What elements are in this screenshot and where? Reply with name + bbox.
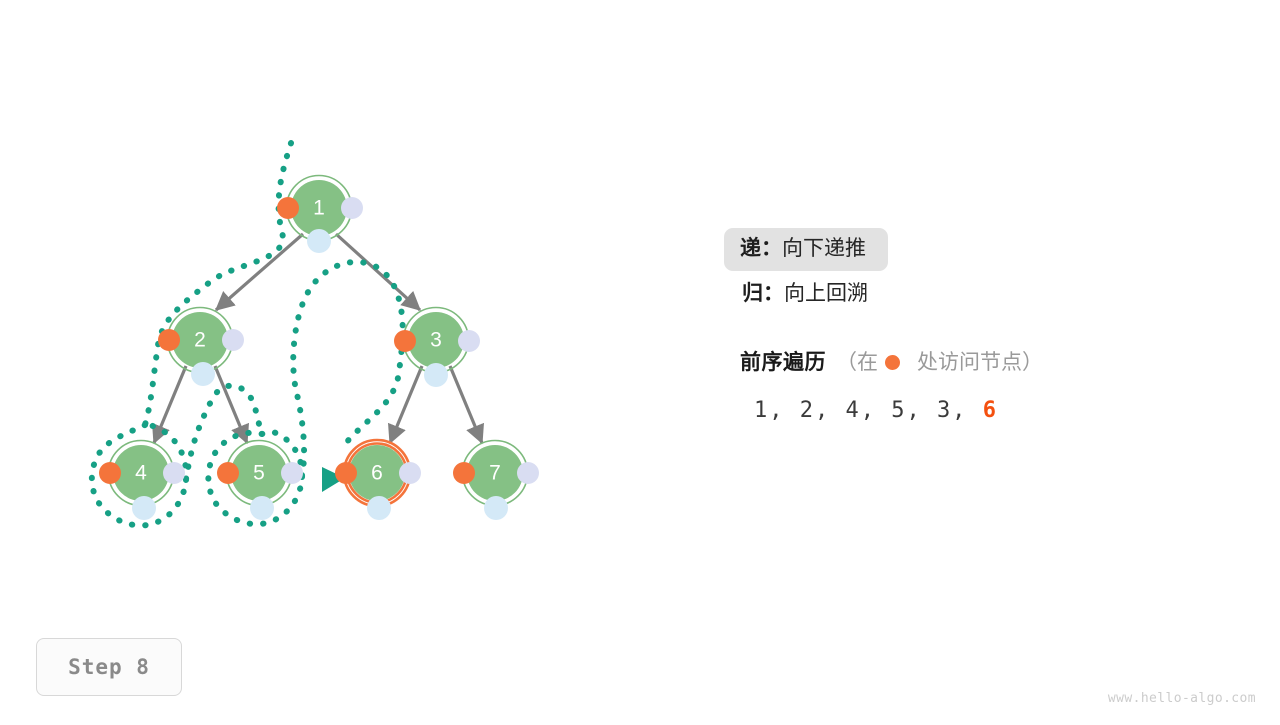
site-watermark: www.hello-algo.com xyxy=(1108,691,1256,706)
node-4-label: 4 xyxy=(135,462,147,485)
edge-3-6 xyxy=(390,366,422,443)
legend-backtrack-text: 向上回溯 xyxy=(784,283,868,304)
node-2-inorder-dot-icon xyxy=(222,329,244,351)
legend-recurse-text: 向下递推 xyxy=(782,238,866,259)
traversal-block: 前序遍历 （在 处访问节点） 1, 2, 4, 5, 3, 6 xyxy=(726,346,1246,423)
node-2-postorder-dot-icon xyxy=(191,362,215,386)
node-5-inorder-dot-icon xyxy=(281,462,303,484)
traversal-title: 前序遍历 xyxy=(740,346,826,376)
node-6-inorder-dot-icon xyxy=(399,462,421,484)
tree-svg: 1 2 3 4 xyxy=(0,0,700,720)
node-1-inorder-dot-icon xyxy=(341,197,363,219)
node-7-inorder-dot-icon xyxy=(517,462,539,484)
edge-2-5 xyxy=(215,366,247,443)
node-7-label: 7 xyxy=(489,462,501,485)
node-4-inorder-dot-icon xyxy=(163,462,185,484)
node-5-preorder-dot-icon xyxy=(217,462,239,484)
legend-row-backtrack: 归：向上回溯 xyxy=(726,271,1246,316)
tree-node-4[interactable]: 4 xyxy=(99,441,185,521)
path-segment-root-to-2 xyxy=(145,143,291,425)
node-1-preorder-dot-icon xyxy=(277,197,299,219)
node-7-postorder-dot-icon xyxy=(484,496,508,520)
node-1-postorder-dot-icon xyxy=(307,229,331,253)
edge-2-4 xyxy=(154,366,186,443)
node-3-preorder-dot-icon xyxy=(394,330,416,352)
node-5-label: 5 xyxy=(253,462,265,485)
sequence-current-value: 6 xyxy=(983,398,998,423)
legend-recurse-label: 递： xyxy=(740,238,782,259)
tree-node-1[interactable]: 1 xyxy=(277,176,363,254)
traversal-note-before: （在 xyxy=(836,346,878,376)
traversal-title-row: 前序遍历 （在 处访问节点） xyxy=(740,346,1246,376)
legend-panel: 递：向下递推 归：向上回溯 前序遍历 （在 处访问节点） 1, 2, 4, 5,… xyxy=(726,228,1246,423)
traversal-note-after: 处访问节点） xyxy=(917,346,1043,376)
step-label: Step 8 xyxy=(68,655,150,679)
node-7-preorder-dot-icon xyxy=(453,462,475,484)
watermark-text: www.hello-algo.com xyxy=(1108,691,1256,706)
step-badge: Step 8 xyxy=(36,638,182,696)
legend-recurse-highlight: 递：向下递推 xyxy=(724,228,888,271)
preorder-marker-dot-icon xyxy=(885,355,900,370)
node-3-label: 3 xyxy=(430,329,442,352)
edge-1-3 xyxy=(336,234,420,310)
node-4-postorder-dot-icon xyxy=(132,496,156,520)
node-6-label: 6 xyxy=(371,462,383,485)
legend-row-recurse: 递：向下递推 xyxy=(726,228,1246,271)
binary-tree-diagram: 1 2 3 4 xyxy=(0,0,700,720)
tree-node-3[interactable]: 3 xyxy=(394,308,480,388)
node-3-postorder-dot-icon xyxy=(424,363,448,387)
node-4-preorder-dot-icon xyxy=(99,462,121,484)
node-1-label: 1 xyxy=(313,197,325,220)
node-6-preorder-dot-icon xyxy=(335,462,357,484)
tree-node-7[interactable]: 7 xyxy=(453,441,539,521)
node-5-postorder-dot-icon xyxy=(250,496,274,520)
edge-3-7 xyxy=(450,366,482,443)
tree-node-6[interactable]: 6 xyxy=(335,440,421,520)
node-2-label: 2 xyxy=(194,329,206,352)
legend-backtrack-wrap: 归：向上回溯 xyxy=(726,271,890,316)
tree-node-5[interactable]: 5 xyxy=(217,441,303,521)
legend-backtrack-label: 归： xyxy=(742,283,784,304)
node-3-inorder-dot-icon xyxy=(458,330,480,352)
traversal-sequence: 1, 2, 4, 5, 3, 6 xyxy=(740,398,1246,423)
sequence-visited: 1, 2, 4, 5, 3, xyxy=(754,398,967,423)
node-6-postorder-dot-icon xyxy=(367,496,391,520)
node-2-preorder-dot-icon xyxy=(158,329,180,351)
